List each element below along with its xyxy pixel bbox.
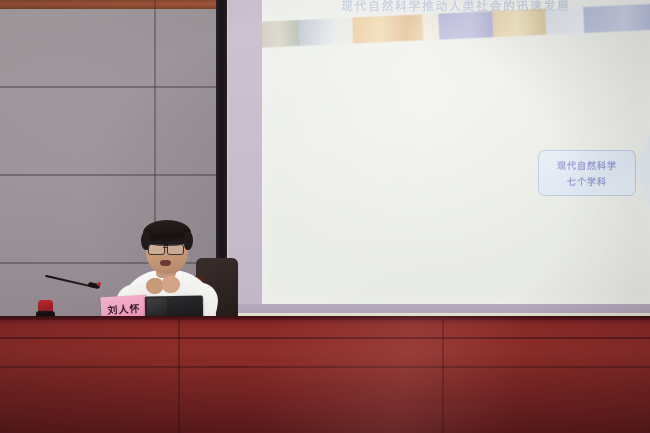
banner-thumb [299,18,337,46]
banner-thumb [492,9,547,37]
center-label-box: 现代自然科学 七个学科 [538,150,636,196]
desk-panel-seam [442,320,444,433]
eyeglasses-bridge [163,247,168,248]
hand-right [162,276,180,293]
hand-left [146,278,163,294]
ceiling-wood-trim [0,0,226,9]
banner-thumb [422,14,440,41]
wall-below-screen [230,304,650,313]
desk-mid-line [0,366,650,368]
eyeglasses-lens-left [148,244,165,255]
eyebrow-right [168,241,182,243]
hair-side-right [184,232,193,250]
banner-thumb [352,14,423,43]
banner-thumb [336,18,354,45]
microphone-tip-led [97,282,101,286]
banner-thumb [583,3,650,33]
desk-lip-line [0,337,650,339]
conference-room-photo: 现代自然科学推动人类社会的迅速发展 现代自然科学 七个学科 数学 力学 物理 化… [0,0,650,433]
wall-seam-horizontal [0,174,216,176]
center-box-line-1: 现代自然科学 [557,159,617,172]
desk-top-edge [0,316,650,320]
banner-thumb [262,20,300,48]
wall-seam-horizontal [0,86,216,88]
mouth [160,260,171,266]
nameplate-text: 刘人怀 [107,300,141,317]
banner-thumb [546,7,584,35]
conference-desk [0,316,650,433]
eyeglasses-lens-right [167,244,184,255]
left-arrow-shape [634,62,650,278]
projection-screen: 现代自然科学推动人类社会的迅速发展 现代自然科学 七个学科 数学 力学 物理 化… [262,0,650,304]
desk-panel-seam [178,320,180,433]
center-box-line-2: 七个学科 [567,175,607,188]
banner-thumb [439,11,494,39]
eyebrow-left [148,241,162,243]
